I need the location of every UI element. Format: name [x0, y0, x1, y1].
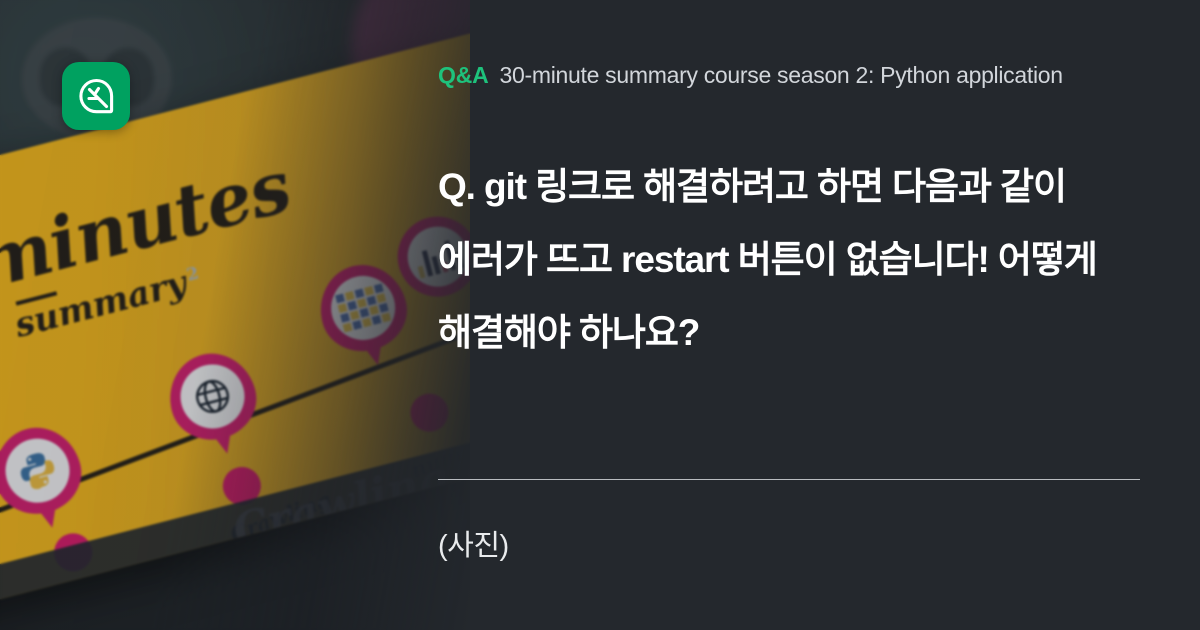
- qa-tag: Q&A: [438, 62, 489, 89]
- question-body: (사진): [438, 522, 509, 564]
- share-card: 30 minutes summary2 Python Crawling nump…: [0, 0, 1200, 630]
- inflearn-leaf-icon: [62, 62, 130, 130]
- course-title: 30-minute summary course season 2: Pytho…: [500, 62, 1063, 89]
- question-content: Q&A 30-minute summary course season 2: P…: [438, 0, 1150, 630]
- breadcrumb: Q&A 30-minute summary course season 2: P…: [438, 62, 1063, 89]
- content-divider: [438, 479, 1140, 480]
- page-title: Q. git 링크로 해결하려고 하면 다음과 같이 에러가 뜨고 restar…: [438, 150, 1152, 369]
